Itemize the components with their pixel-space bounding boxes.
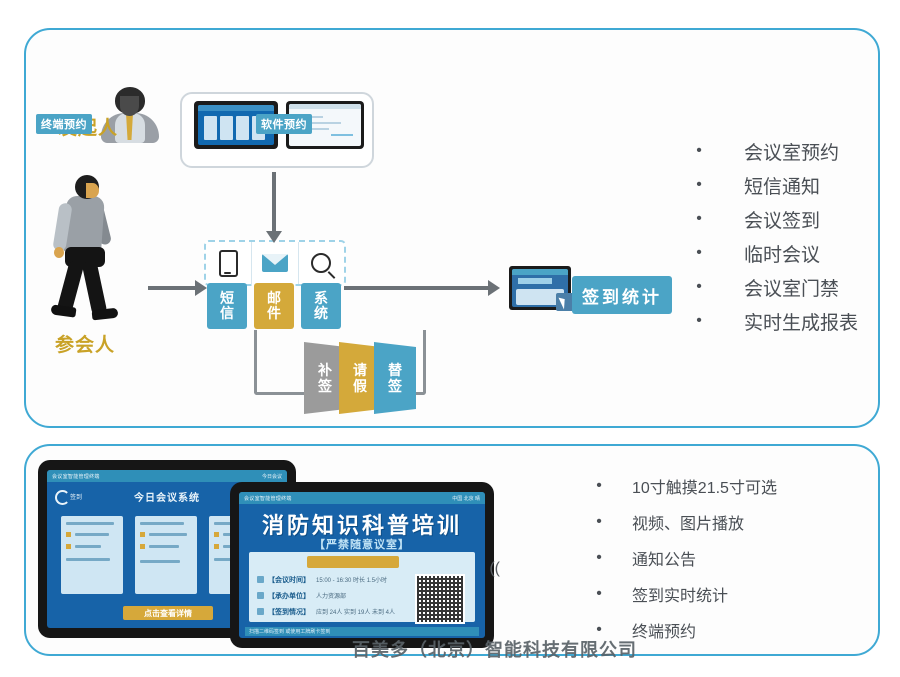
- info-row-value: 人力资源部: [316, 591, 346, 600]
- arrow-down-icon: [272, 172, 276, 232]
- meeting-info-body: 【会议时间】 15:00 - 16:30 时长 1.5小时 【承办单位】 人力资…: [249, 552, 475, 622]
- bullet-icon: •: [688, 312, 710, 330]
- tablet-topbar-title: 会议室智能管理终端: [52, 473, 100, 480]
- workflow-feature-list: •会议室预约 •短信通知 •会议签到 •临时会议 •会议室门禁 •实时生成报表: [688, 134, 858, 338]
- list-item: •实时生成报表: [688, 304, 858, 338]
- terminal-feature-list: •10寸触摸21.5寸可选 •视频、图片播放 •通知公告 •签到实时统计 •终端…: [588, 468, 777, 648]
- info-row-organizer: 【承办单位】 人力资源部: [257, 590, 346, 601]
- feature-label: 终端预约: [632, 618, 696, 642]
- meeting-info-tablet[interactable]: 会议室智能管理终端 中国 北京 晴 消防知识科普培训 【严禁随意议室】 【会议时…: [230, 482, 494, 648]
- channel-system[interactable]: 系统: [301, 283, 341, 329]
- bullet-icon: •: [688, 278, 710, 296]
- meeting-card[interactable]: [61, 516, 123, 594]
- list-item: •通知公告: [588, 540, 777, 576]
- marker-icon: [257, 576, 264, 583]
- wifi-signal-icon: ((: [489, 560, 500, 578]
- statistics-badge-label: 签到统计: [582, 283, 662, 308]
- marker-icon: [257, 608, 264, 615]
- feature-label: 临时会议: [744, 240, 820, 267]
- tablet-topbar-title: 会议室智能管理终端: [244, 495, 292, 502]
- terminal-booking-badge[interactable]: 终端预约: [36, 114, 92, 134]
- bullet-icon: •: [588, 549, 610, 567]
- list-item: •会议签到: [688, 202, 858, 236]
- attendee-label: 参会人: [55, 330, 115, 357]
- channel-email-label: 邮件: [267, 291, 282, 321]
- signing-option-proxy[interactable]: 替签: [374, 342, 416, 414]
- info-row-value: 应到 24人 实到 19人 未到 4人: [316, 607, 395, 616]
- tablet-topbar: 会议室智能管理终端 中国 北京 晴: [239, 492, 485, 504]
- feature-label: 签到实时统计: [632, 582, 728, 606]
- bullet-icon: •: [588, 513, 610, 531]
- software-booking-badge[interactable]: 软件预约: [256, 114, 312, 134]
- bullet-icon: •: [588, 585, 610, 603]
- tablet-topbar-right: 中国 北京 晴: [452, 495, 480, 502]
- bullet-icon: •: [688, 142, 710, 160]
- tablet-footer: 扫描二维码签到 或使用工牌刷卡签到: [245, 627, 479, 636]
- list-item: •会议室门禁: [688, 270, 858, 304]
- list-item: •10寸触摸21.5寸可选: [588, 468, 777, 504]
- bullet-icon: •: [688, 244, 710, 262]
- feature-label: 会议室门禁: [744, 274, 839, 301]
- marker-icon: [257, 592, 264, 599]
- info-row-key: 【承办单位】: [268, 591, 310, 601]
- tablet-topbar-right: 今日会议: [262, 473, 282, 480]
- bullet-icon: •: [588, 477, 610, 495]
- bullet-icon: •: [688, 176, 710, 194]
- channel-system-label: 系统: [314, 291, 329, 321]
- phone-icon: [206, 242, 252, 284]
- channel-sms[interactable]: 短信: [207, 283, 247, 329]
- arrow-right-stats-icon: [344, 286, 489, 290]
- notification-channel-icons: [204, 240, 346, 286]
- qr-code-icon[interactable]: [415, 574, 465, 624]
- meeting-subtitle: 【严禁随意议室】: [239, 536, 485, 552]
- attendee-figure-icon: [45, 175, 137, 325]
- feature-label: 实时生成报表: [744, 308, 858, 335]
- info-row-key: 【签到情况】: [268, 607, 310, 617]
- search-icon: [299, 242, 344, 284]
- info-row-value: 15:00 - 16:30 时长 1.5小时: [316, 575, 387, 584]
- meeting-card[interactable]: [135, 516, 197, 594]
- view-detail-button[interactable]: 点击查看详情: [123, 606, 213, 620]
- feature-label: 通知公告: [632, 546, 696, 570]
- tablet-topbar: 会议室智能管理终端 今日会议: [47, 470, 287, 482]
- mail-icon: [252, 242, 298, 284]
- list-item: •视频、图片播放: [588, 504, 777, 540]
- feature-label: 会议签到: [744, 206, 820, 233]
- signing-option-leave-label: 请假: [353, 362, 368, 394]
- bullet-icon: •: [688, 210, 710, 228]
- channel-email[interactable]: 邮件: [254, 283, 294, 329]
- info-row-time: 【会议时间】 15:00 - 16:30 时长 1.5小时: [257, 574, 387, 585]
- meeting-banner: [307, 556, 399, 568]
- list-item: •会议室预约: [688, 134, 858, 168]
- info-row-attendance: 【签到情况】 应到 24人 实到 19人 未到 4人: [257, 606, 395, 617]
- signing-option-supplementary-label: 补签: [318, 362, 333, 394]
- statistics-badge[interactable]: 签到统计: [572, 276, 672, 314]
- feature-label: 短信通知: [744, 172, 820, 199]
- channel-sms-label: 短信: [220, 291, 235, 321]
- list-item: •签到实时统计: [588, 576, 777, 612]
- signing-option-proxy-label: 替签: [388, 362, 403, 394]
- feature-label: 视频、图片播放: [632, 510, 744, 534]
- list-item: •短信通知: [688, 168, 858, 202]
- workflow-panel: 短信 邮件 系统 补签 请假 替签 签到统计 •会议室预约 •短信通知 •会议签…: [24, 28, 880, 428]
- arrow-right-attendee-icon: [148, 286, 196, 290]
- feature-label: 会议室预约: [744, 138, 839, 165]
- watermark-text: 百美多（北京）智能科技有限公司: [352, 636, 637, 662]
- list-item: •临时会议: [688, 236, 858, 270]
- feature-label: 10寸触摸21.5寸可选: [632, 474, 777, 498]
- info-row-key: 【会议时间】: [268, 575, 310, 585]
